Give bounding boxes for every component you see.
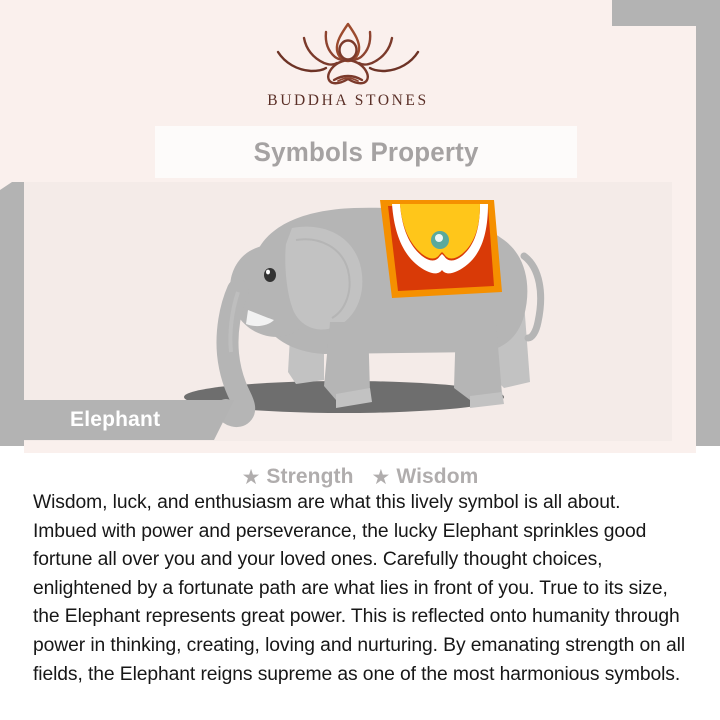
attribute-label: Wisdom: [396, 465, 478, 489]
brand-logo: BUDDHA STONES: [0, 18, 696, 122]
lotus-meditation-icon: [266, 18, 430, 88]
title-banner: Symbols Property: [155, 126, 577, 178]
description-paragraph: Wisdom, luck, and enthusiasm are what th…: [33, 488, 685, 688]
attribute-item: ★ Strength: [242, 465, 354, 489]
star-icon: ★: [372, 467, 391, 488]
elephant-eye: [264, 268, 276, 282]
star-icon: ★: [242, 467, 261, 488]
symbol-label-banner: Elephant: [24, 400, 234, 440]
symbol-label: Elephant: [70, 408, 160, 432]
attribute-label: Strength: [266, 465, 353, 489]
cream-divider-strip: [24, 441, 696, 453]
poster-root: BUDDHA STONES Symbols Property: [0, 0, 720, 720]
left-gray-rail: [0, 182, 24, 446]
brand-name: BUDDHA STONES: [267, 92, 428, 110]
attribute-item: ★ Wisdom: [372, 465, 479, 489]
page-title: Symbols Property: [254, 137, 479, 168]
